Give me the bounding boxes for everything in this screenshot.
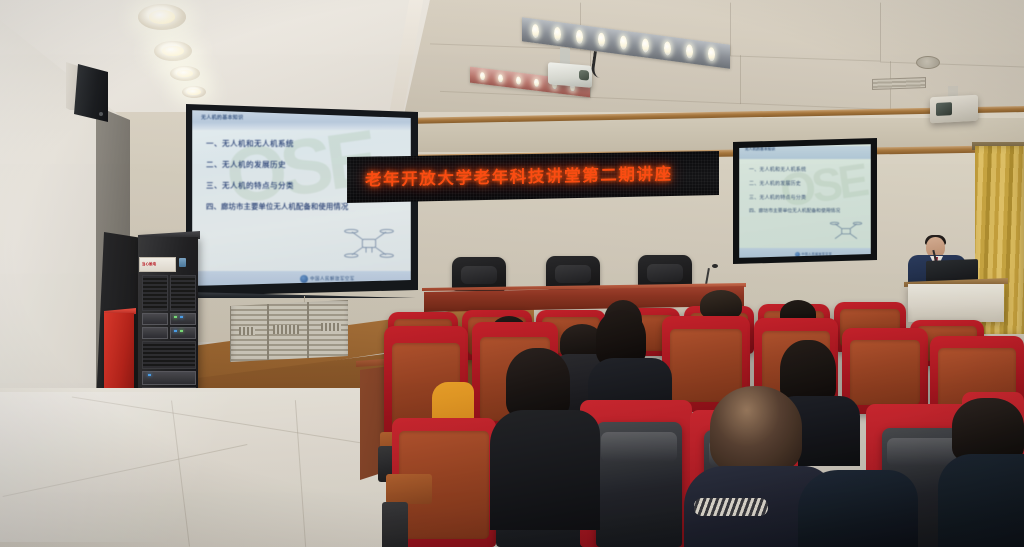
ceiling-downlight: [154, 41, 192, 61]
drone-illustration-icon: [829, 220, 863, 242]
audience-scarf: [694, 498, 768, 516]
ceiling-downlight: [182, 86, 206, 98]
wall-monitor-screen: 无人机的基本知识 OSE 一、无人机和无人机系统 二、无人机的发展历史 三、无人…: [739, 144, 871, 258]
speaker-podium: 老年科技讲堂: [908, 284, 1004, 322]
ceiling-downlight: [170, 66, 200, 81]
projector-cable: [590, 51, 610, 79]
electrical-warning-label: 当心触电: [139, 257, 176, 272]
slide-bullet: 四、廊坊市主要单位无人机配备和使用情况: [206, 203, 402, 210]
wall-mounted-loudspeaker: [930, 95, 978, 124]
backpack: [940, 322, 972, 356]
monitor-slide-bullet: 三、无人机的特点与分类: [749, 196, 867, 201]
projector-lens-icon: [579, 70, 590, 81]
organization-logo-icon: [300, 275, 308, 283]
ceiling-downlight: [138, 4, 186, 30]
monitor-slide-body: 一、无人机和无人机系统 二、无人机的发展历史 三、无人机的特点与分类 四、廊坊市…: [749, 168, 867, 224]
ceiling-projector: [548, 62, 592, 88]
presiding-chair[interactable]: [452, 257, 506, 291]
monitor-slide-bullet: 二、无人机的发展历史: [749, 182, 867, 187]
auditorium-seat[interactable]: [842, 328, 928, 414]
led-scrolling-banner: 老年开放大学老年科技讲堂第二期讲座: [347, 151, 719, 203]
slide-bullet: 一、无人机和无人机系统: [206, 140, 402, 148]
presiding-chair[interactable]: [546, 256, 600, 290]
table-microphone-icon: [712, 264, 718, 268]
ceiling-tile: [740, 55, 891, 110]
fire-extinguisher-cabinet[interactable]: [104, 313, 134, 399]
monitor-slide-header-title: 无人机的基本知识: [745, 147, 775, 152]
lecture-hall-photo: 无人机的基本知识 OSE 一、无人机和无人机系统 二、无人机的发展历史 三、无人…: [0, 0, 1024, 547]
speaker-driver-icon: [99, 112, 103, 116]
podium-laptop[interactable]: [926, 259, 978, 283]
wall-mounted-loudspeaker: [74, 64, 108, 122]
ceiling-smoke-detector: [916, 56, 940, 69]
ceiling-air-vent: [872, 77, 926, 90]
drone-illustration-icon: [343, 226, 395, 260]
slide-footer-logo-text: 中国人民解放军空军: [310, 276, 355, 282]
electrical-warning-label-text: 当心触电: [142, 261, 156, 266]
wall-radiator-grille: [230, 300, 350, 364]
auditorium-seat[interactable]: [392, 418, 496, 547]
organization-logo-icon: [795, 252, 800, 257]
ceiling-tile: [730, 0, 881, 62]
speaker-driver-icon: [936, 102, 952, 116]
ceiling-tile: [880, 0, 1024, 68]
presiding-chair[interactable]: [638, 255, 692, 289]
monitor-slide-bullet: 一、无人机和无人机系统: [749, 168, 867, 173]
monitor-slide-bullet: 四、廊坊市主要单位无人机配备和使用情况: [749, 210, 867, 215]
rack-side-badge: [179, 258, 186, 267]
slide-header-title: 无人机的基本知识: [201, 114, 243, 121]
